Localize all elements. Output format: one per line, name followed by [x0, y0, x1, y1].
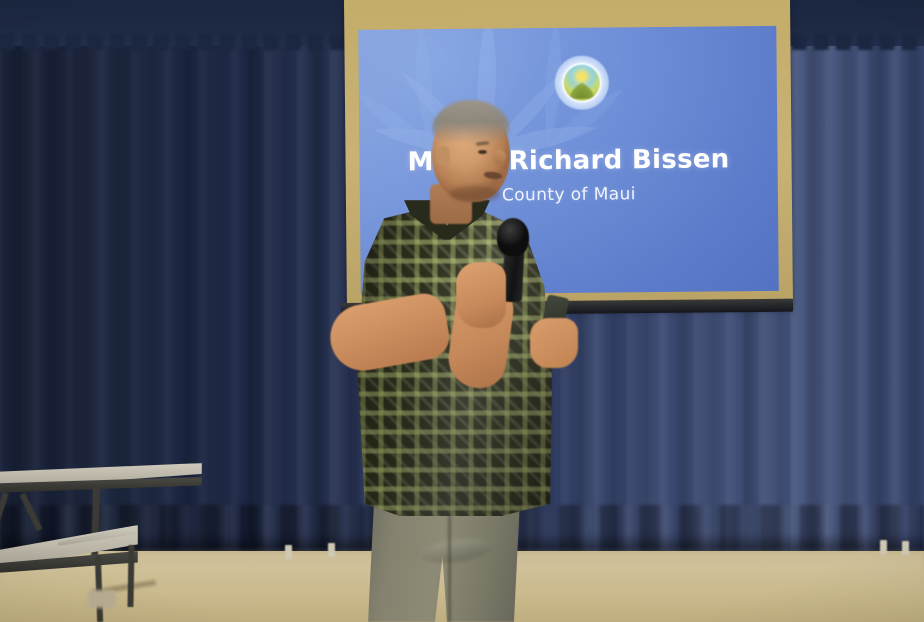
presenter-hand-holding-microphone — [456, 262, 506, 328]
photo-frame: Mayor Richard Bissen County of Maui — [0, 0, 924, 622]
floor-object — [88, 590, 116, 608]
presenter-hand-holding-phone — [530, 318, 578, 368]
presenter-ear — [436, 146, 450, 166]
presenter-eye — [478, 150, 487, 154]
presenter-chin-shadow — [450, 186, 500, 202]
presenter — [0, 0, 924, 622]
pants-crease — [448, 505, 451, 622]
microphone-head-icon — [497, 218, 529, 256]
presenter-hair — [432, 100, 510, 144]
